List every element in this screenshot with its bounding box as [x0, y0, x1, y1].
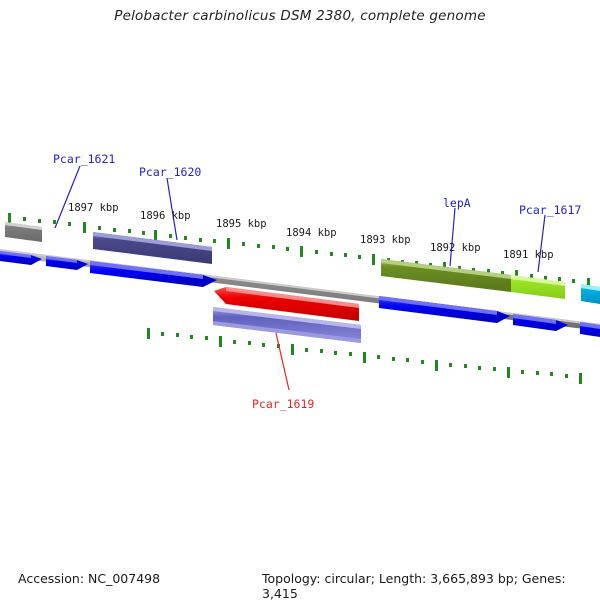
- tick-label: 1894 kbp: [286, 227, 337, 239]
- accession-text: Accession: NC_007498: [18, 571, 160, 586]
- feature-slate-pcar1620[interactable]: [93, 232, 212, 264]
- feature-blue-arrow-4[interactable]: [379, 296, 510, 323]
- tick-label: 1895 kbp: [216, 218, 267, 230]
- feature-cyan-right[interactable]: [581, 284, 600, 304]
- tick-label: 1892 kbp: [430, 242, 481, 254]
- tick-row-lower: [147, 328, 582, 384]
- tick-label: 1893 kbp: [360, 234, 411, 246]
- genome-viewer: Pelobacter carbinolicus DSM 2380, comple…: [0, 0, 600, 600]
- gene-label-pcar-1619[interactable]: Pcar_1619: [252, 397, 314, 411]
- tick-label: 1896 kbp: [140, 210, 191, 222]
- tick-label: 1891 kbp: [503, 249, 554, 261]
- genome-stats-text: Topology: circular; Length: 3,665,893 bp…: [262, 571, 600, 601]
- page-title: Pelobacter carbinolicus DSM 2380, comple…: [0, 8, 600, 24]
- gene-label-pcar-1621[interactable]: Pcar_1621: [53, 152, 115, 166]
- feature-gray-left[interactable]: [5, 222, 42, 242]
- feature-brightgreen-pcar1617[interactable]: [511, 275, 565, 299]
- genome-track: 1897 kbp 1896 kbp 1895 kbp 1894 kbp 1893…: [0, 0, 600, 600]
- gene-label-pcar-1617[interactable]: Pcar_1617: [519, 203, 581, 217]
- feature-blue-arrow-5[interactable]: [513, 314, 568, 331]
- gene-label-lepa[interactable]: lepA: [443, 196, 471, 210]
- tick-label: 1897 kbp: [68, 202, 119, 214]
- gene-label-pcar-1620[interactable]: Pcar_1620: [139, 165, 201, 179]
